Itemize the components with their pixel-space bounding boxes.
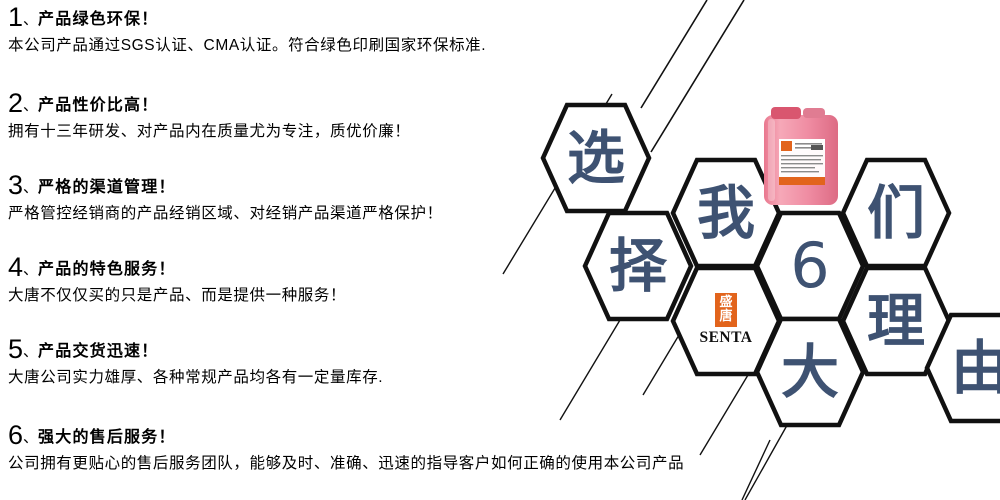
reason-item-1: 1、产品绿色环保！ 本公司产品通过SGS认证、CMA认证。符合绿色印刷国家环保标… <box>8 4 486 55</box>
hexagon-label-you: 由 <box>951 339 1000 397</box>
reason-title-5: 5、产品交货迅速！ <box>8 336 383 363</box>
reason-body-5: 大唐公司实力雄厚、各种常规产品均各有一定量库存. <box>8 369 383 387</box>
hexagon-men: 们 <box>838 155 954 271</box>
promo-banner: 1、产品绿色环保！ 本公司产品通过SGS认证、CMA认证。符合绿色印刷国家环保标… <box>0 0 1000 500</box>
reason-number-4: 4 <box>8 252 23 282</box>
reason-body-3: 严格管控经销商的产品经销区域、对经销产品渠道严格保护！ <box>8 205 443 223</box>
brand-seal-char-2: 唐 <box>716 310 736 323</box>
brand-logo: 盛 唐 SENTA <box>699 293 752 347</box>
reason-separator-4: 、 <box>23 261 38 278</box>
reason-heading-4: 产品的特色服务！ <box>38 261 176 278</box>
reason-heading-3: 严格的渠道管理！ <box>38 179 176 196</box>
reason-item-6: 6、强大的售后服务！ 公司拥有更贴心的售后服务团队，能够及时、准确、迅速的指导客… <box>8 422 684 473</box>
reason-body-1: 本公司产品通过SGS认证、CMA认证。符合绿色印刷国家环保标准. <box>8 37 486 55</box>
reason-item-4: 4、产品的特色服务！ 大唐不仅仅买的只是产品、而是提供一种服务！ <box>8 254 346 305</box>
reason-title-6: 6、强大的售后服务！ <box>8 422 684 449</box>
reason-body-2: 拥有十三年研发、对产品内在质量尤为专注，质优价廉！ <box>8 123 411 141</box>
reason-item-2: 2、产品性价比高！ 拥有十三年研发、对产品内在质量尤为专注，质优价廉！ <box>8 90 411 141</box>
reason-separator-1: 、 <box>23 11 38 28</box>
reason-separator-2: 、 <box>23 97 38 114</box>
reason-title-3: 3、严格的渠道管理！ <box>8 172 443 199</box>
hexagon-you: 由 <box>922 310 1000 426</box>
hexagon-label-li: 理 <box>867 292 925 350</box>
hexagon-label-ze: 择 <box>609 237 667 295</box>
reason-number-3: 3 <box>8 170 23 200</box>
brand-name: SENTA <box>699 329 752 347</box>
reason-item-5: 5、产品交货迅速！ 大唐公司实力雄厚、各种常规产品均各有一定量库存. <box>8 336 383 387</box>
hexagon-label-wo: 我 <box>697 184 755 242</box>
product-image <box>757 103 847 211</box>
reason-heading-1: 产品绿色环保！ <box>38 11 158 28</box>
reason-title-2: 2、产品性价比高！ <box>8 90 411 117</box>
reason-heading-5: 产品交货迅速！ <box>38 343 158 360</box>
reason-separator-5: 、 <box>23 343 38 360</box>
reason-body-6: 公司拥有更贴心的售后服务团队，能够及时、准确、迅速的指导客户如何正确的使用本公司… <box>8 455 684 473</box>
reason-number-5: 5 <box>8 334 23 364</box>
hexagon-label-xuan: 选 <box>567 129 625 187</box>
hexagon-xuan: 选 <box>538 100 654 216</box>
reason-heading-2: 产品性价比高！ <box>38 97 158 114</box>
hexagon-label-men: 们 <box>867 184 925 242</box>
reason-number-2: 2 <box>8 88 23 118</box>
reason-separator-3: 、 <box>23 179 38 196</box>
reason-body-4: 大唐不仅仅买的只是产品、而是提供一种服务！ <box>8 287 346 305</box>
reason-number-1: 1 <box>8 2 23 32</box>
hexagon-label-six: 6 <box>790 235 829 297</box>
reason-number-6: 6 <box>8 420 23 450</box>
brand-seal-icon: 盛 唐 <box>715 293 737 327</box>
reason-separator-6: 、 <box>23 429 38 446</box>
reason-title-1: 1、产品绿色环保！ <box>8 4 486 31</box>
reason-item-3: 3、严格的渠道管理！ 严格管控经销商的产品经销区域、对经销产品渠道严格保护！ <box>8 172 443 223</box>
hexagon-label-da: 大 <box>781 343 839 401</box>
reason-title-4: 4、产品的特色服务！ <box>8 254 346 281</box>
reason-heading-6: 强大的售后服务！ <box>38 429 176 446</box>
